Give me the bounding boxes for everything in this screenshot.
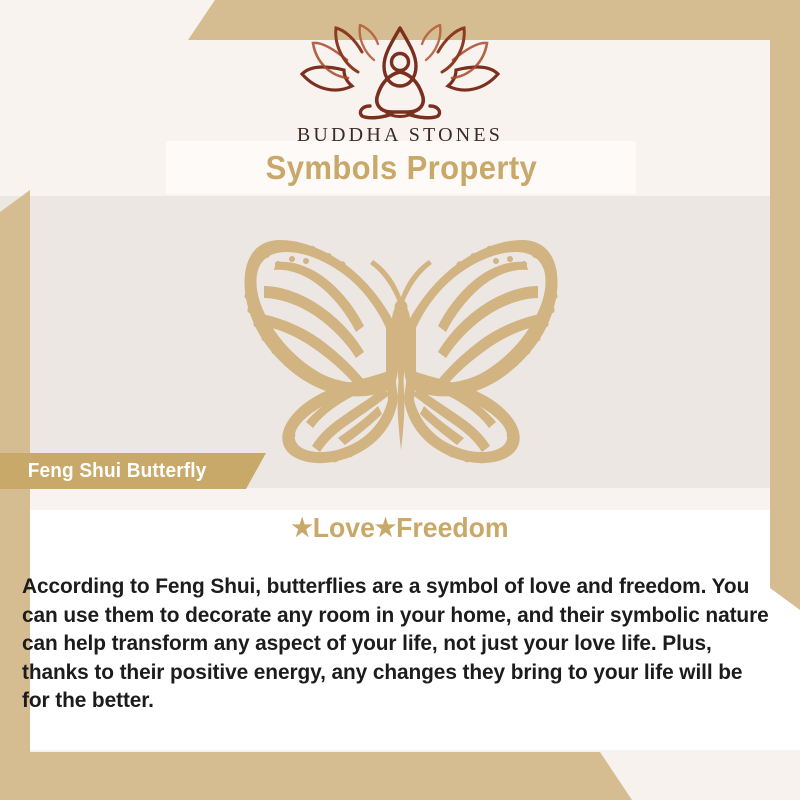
page-title: Symbols Property [265, 149, 536, 187]
background-band-cream [0, 488, 800, 510]
lotus-meditation-figure-icon [300, 24, 500, 120]
butterfly-illustration [218, 228, 584, 464]
star-icon-left: ★ [291, 514, 312, 542]
gold-ribbon-bottom [0, 752, 640, 800]
headline-word-love: Love [313, 512, 375, 543]
content-headline: ★Love★Freedom [20, 512, 780, 544]
tag-label: Feng Shui Butterfly [28, 460, 207, 483]
title-banner: Symbols Property [166, 141, 636, 194]
feng-shui-butterfly-tag: Feng Shui Butterfly [0, 453, 266, 489]
headline-word-freedom: Freedom [396, 512, 508, 543]
body-paragraph: According to Feng Shui, butterflies are … [22, 573, 769, 716]
promo-card: BUDDHA STONES Symbols Property [0, 0, 800, 800]
brand-logo: BUDDHA STONES [0, 24, 800, 147]
star-icon-middle: ★ [375, 514, 396, 542]
butterfly-icon [218, 228, 584, 464]
